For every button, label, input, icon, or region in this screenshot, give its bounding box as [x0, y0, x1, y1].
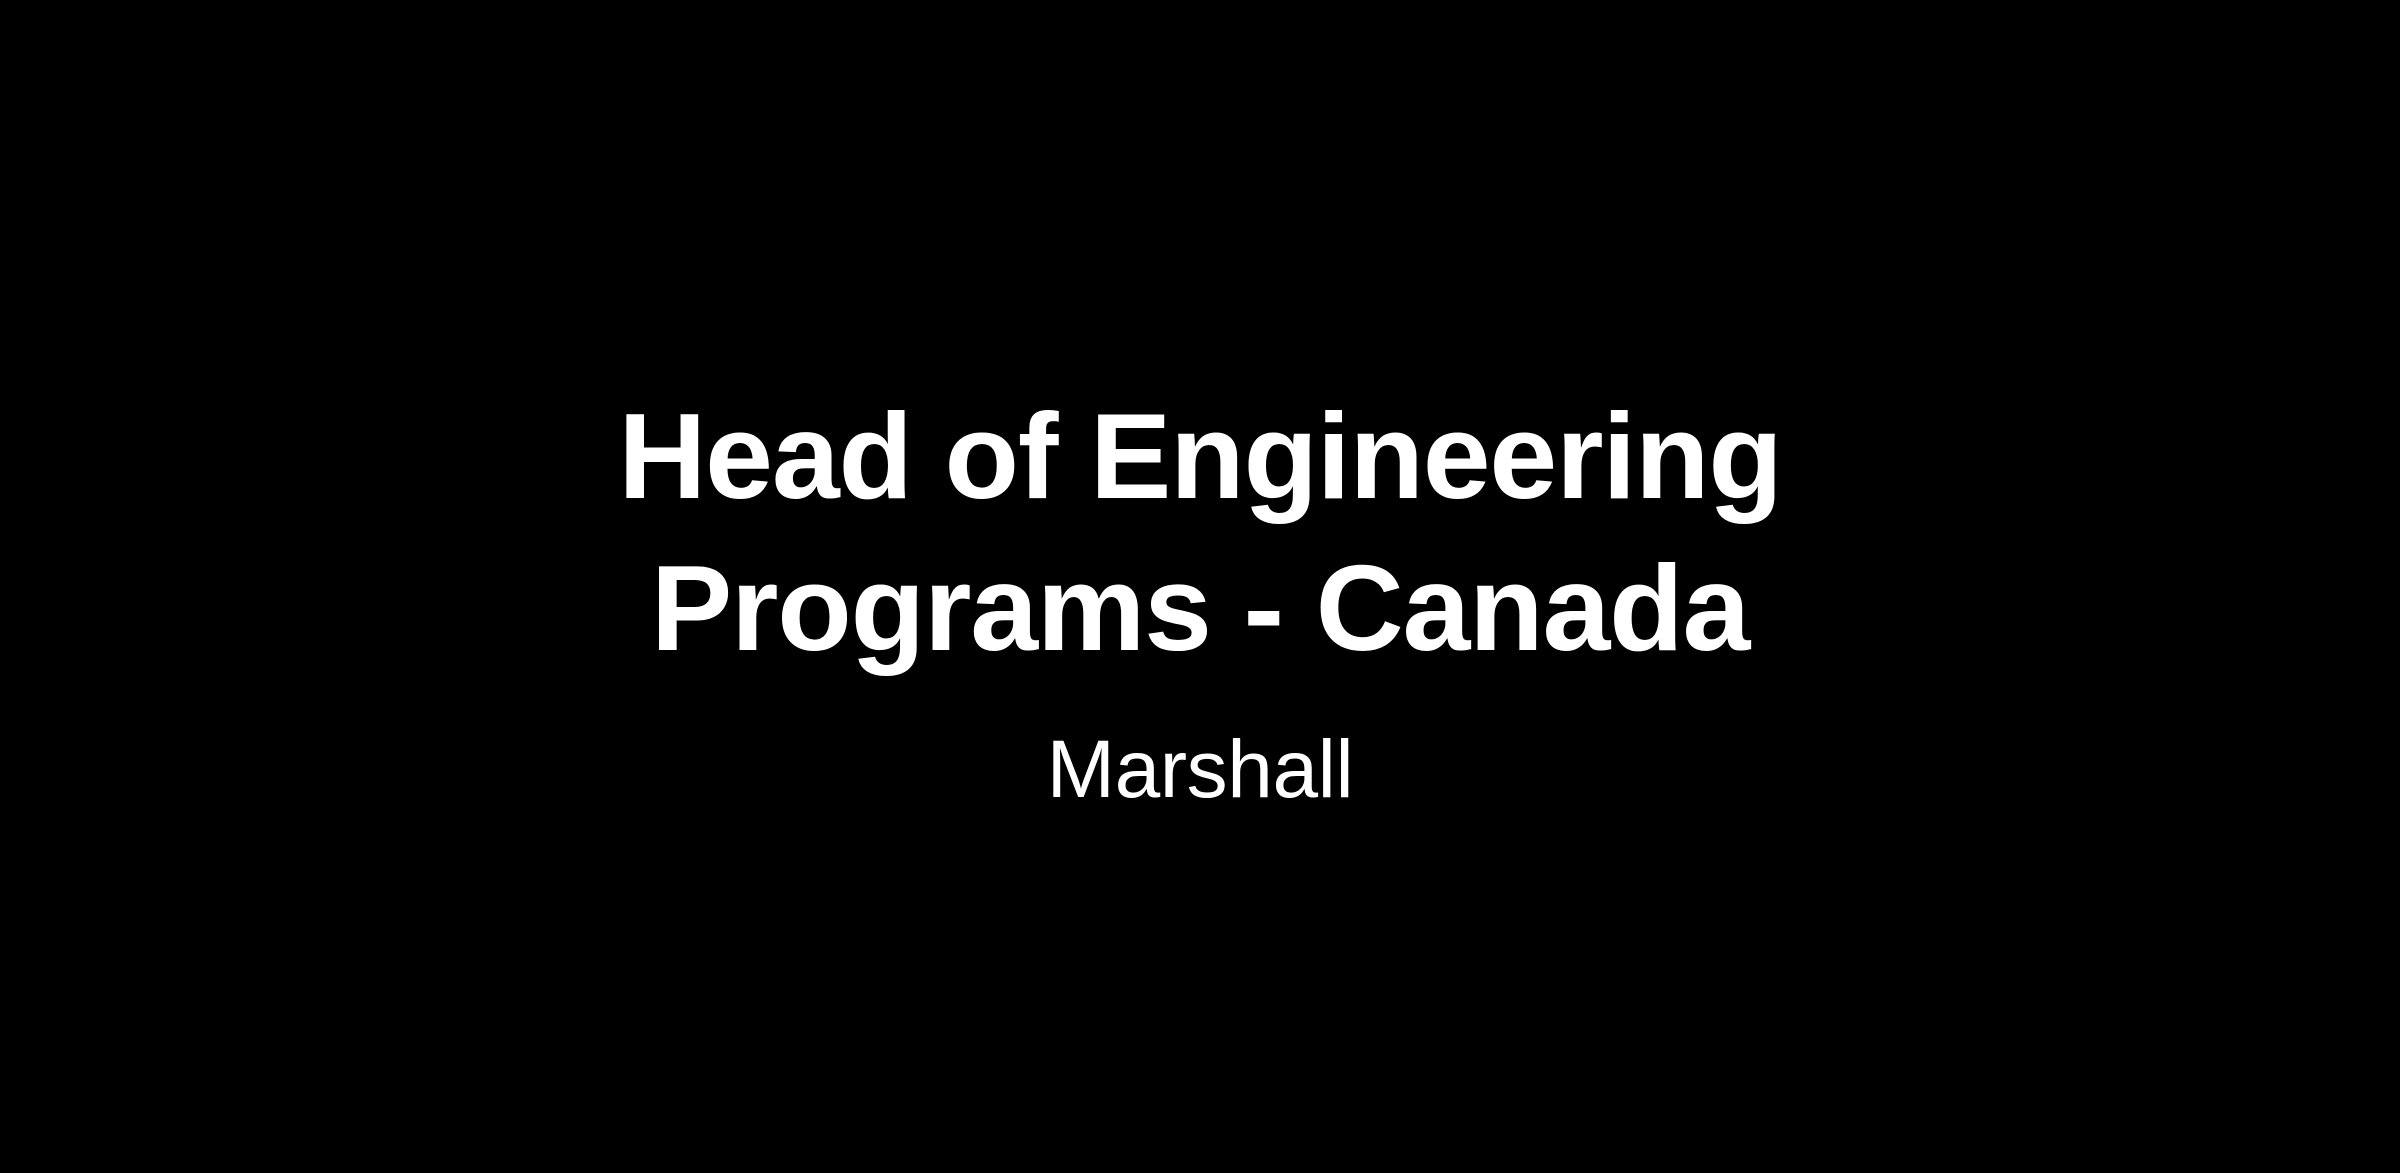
slide-title: Head of Engineering Programs - Canada	[380, 381, 2020, 685]
presentation-slide: Head of Engineering Programs - Canada Ma…	[0, 0, 2400, 1173]
slide-content-block: Head of Engineering Programs - Canada Ma…	[0, 381, 2400, 811]
slide-subtitle: Marshall	[1047, 729, 1354, 811]
